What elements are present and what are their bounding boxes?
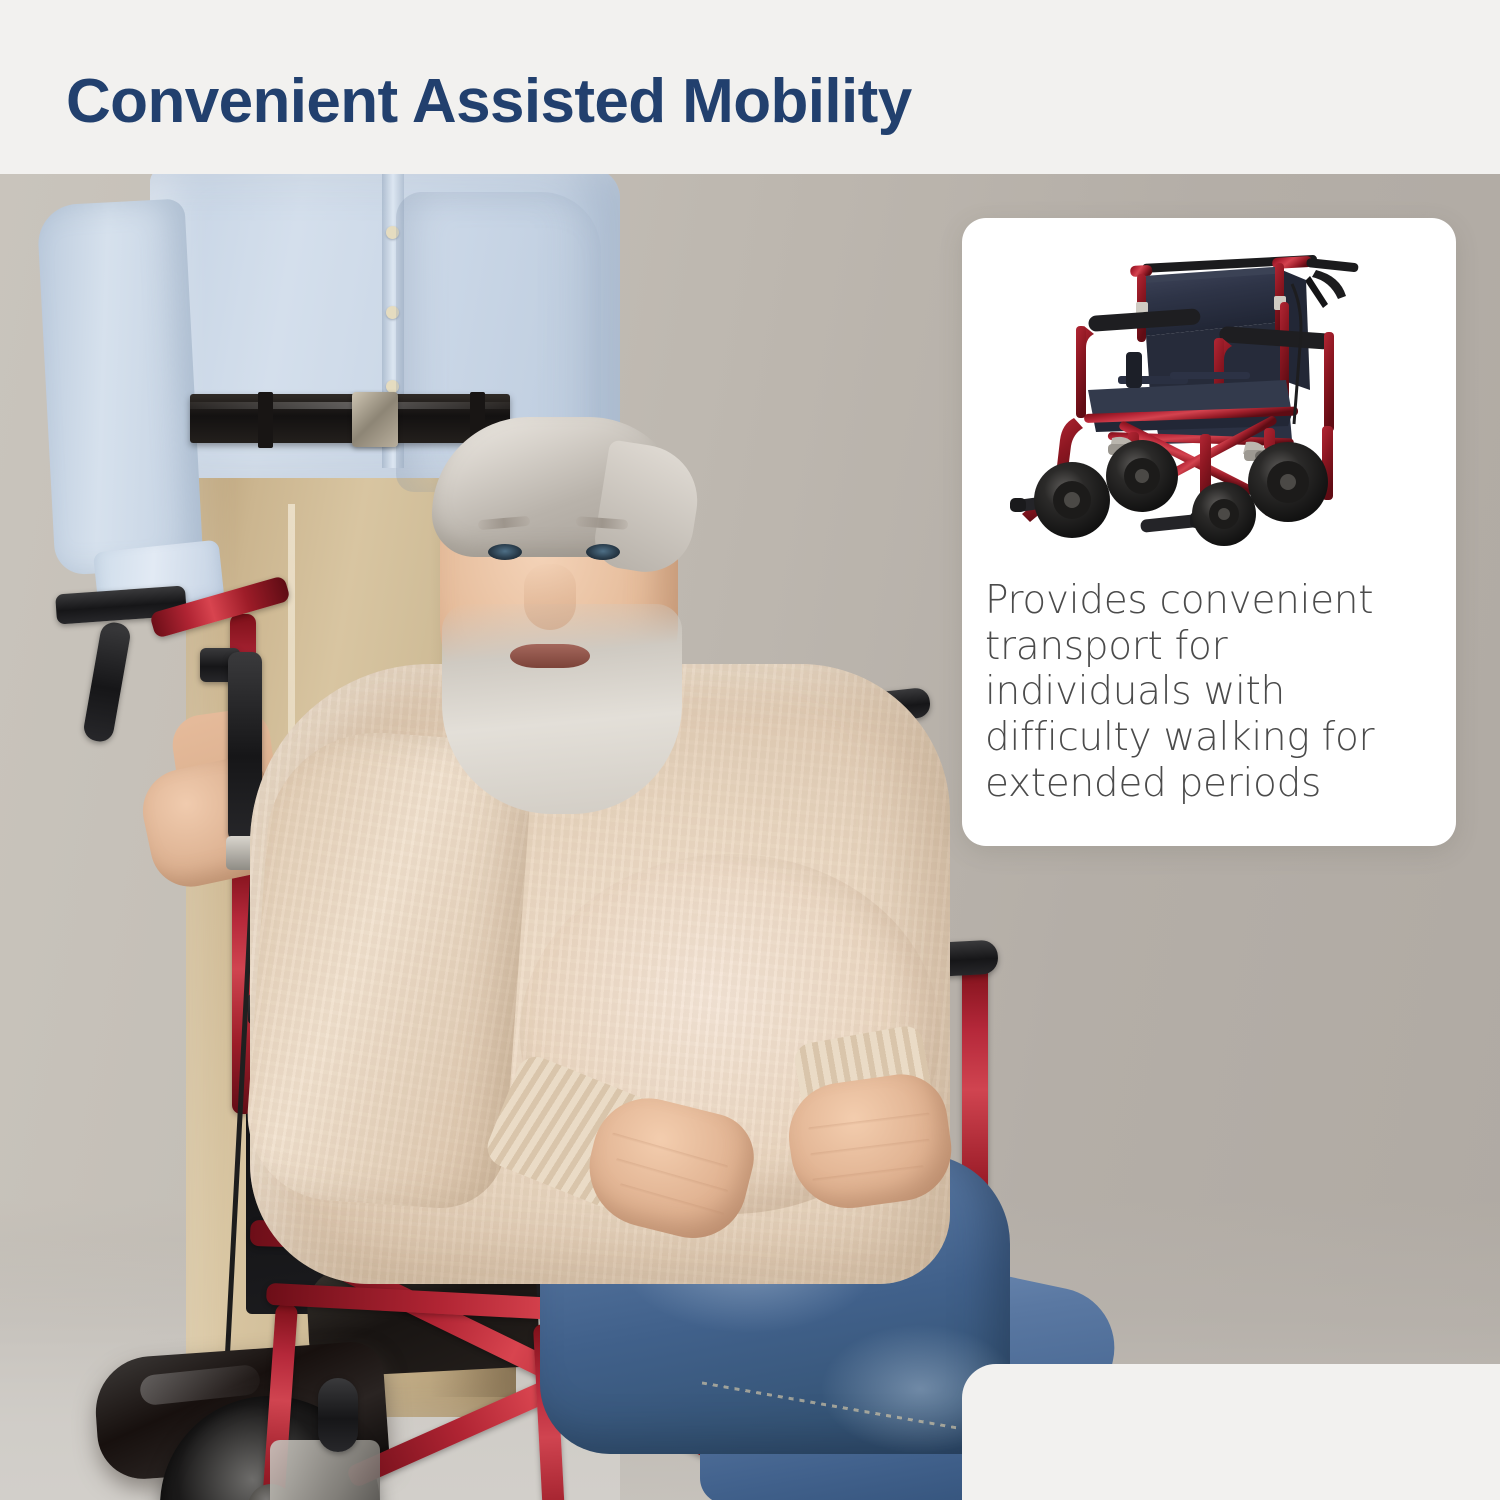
seated-man-eye-right <box>586 544 620 560</box>
brand-logo-badge: drive DeVilbiss• HEALTHCARE <box>962 1364 1500 1500</box>
seated-man-mouth <box>510 644 590 668</box>
brake-assembly <box>270 1440 380 1500</box>
product-image-panel <box>1010 254 1410 546</box>
transport-wheelchair-icon <box>1010 254 1410 546</box>
product-marketing-image: Convenient Assisted Mobility <box>0 0 1500 1500</box>
seated-man-nose <box>524 564 576 630</box>
seated-man-beard <box>442 604 682 814</box>
callout-body-text: Provides convenient transport for indivi… <box>985 578 1437 806</box>
push-handle-bar-left <box>149 575 291 639</box>
header-band: Convenient Assisted Mobility <box>0 0 1500 174</box>
footrest-knob-left <box>318 1378 358 1452</box>
page-title: Convenient Assisted Mobility <box>66 71 912 133</box>
seated-man-eye-left <box>488 544 522 560</box>
brake-lever-left <box>82 620 132 743</box>
